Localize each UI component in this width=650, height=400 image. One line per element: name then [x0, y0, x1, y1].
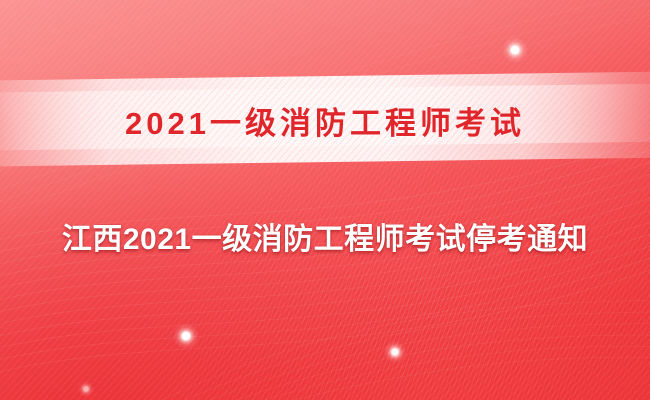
promo-banner: 2021一级消防工程师考试 江西2021一级消防工程师考试停考通知: [0, 0, 650, 400]
banner-subtitle: 江西2021一级消防工程师考试停考通知: [0, 214, 650, 258]
banner-title: 2021一级消防工程师考试: [0, 98, 650, 143]
